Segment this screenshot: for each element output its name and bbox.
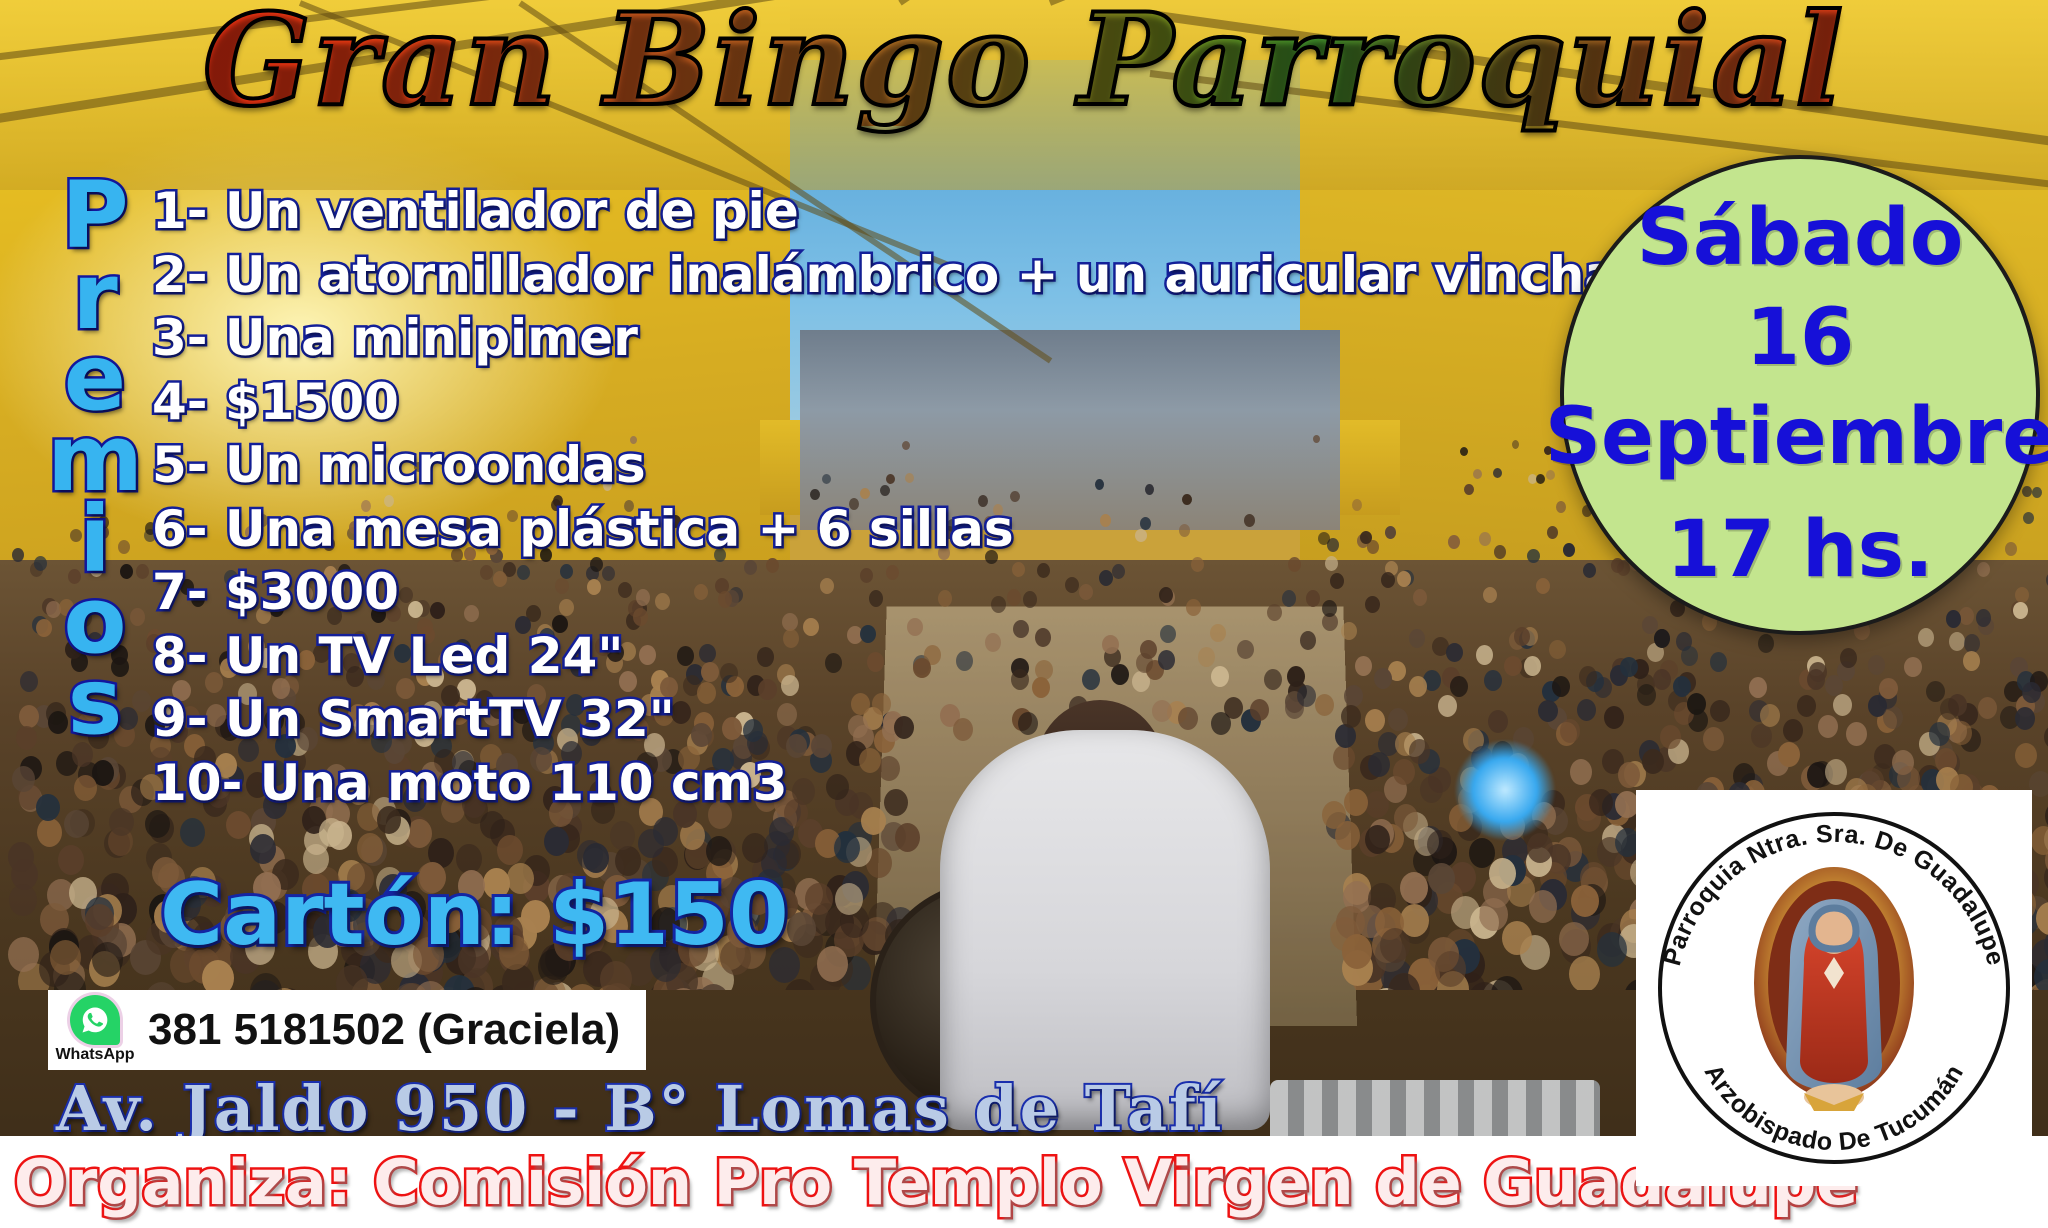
whatsapp-label: WhatsApp — [55, 1047, 134, 1063]
organizer-text: Organiza: Comisión Pro Templo Virgen de … — [0, 1146, 1858, 1219]
whatsapp-mark: WhatsApp — [56, 994, 134, 1066]
bingo-poster: Gran Bingo Parroquial P r e m i o s 1- U… — [0, 0, 2048, 1228]
carton-price: Cartón: $150 — [160, 865, 789, 965]
prize-item: 7- $3000 — [152, 561, 1482, 625]
whatsapp-icon — [70, 995, 120, 1045]
whatsapp-phone-number: 381 5181502 (Graciela) — [148, 1005, 620, 1055]
event-day-name: Sábado — [1637, 195, 1964, 282]
prize-list: 1- Un ventilador de pie 2- Un atornillad… — [152, 180, 1482, 815]
prize-item: 10- Una moto 110 cm3 — [152, 752, 1482, 816]
prize-item: 5- Un microondas — [152, 434, 1482, 498]
poster-title: Gran Bingo Parroquial — [0, 0, 2048, 126]
prize-item: 8- Un TV Led 24" — [152, 625, 1482, 689]
virgin-of-guadalupe-image — [1750, 865, 1918, 1111]
prize-item: 4- $1500 — [152, 371, 1482, 435]
parish-logo: Parroquia Ntra. Sra. De Guadalupe Arzobi… — [1636, 790, 2032, 1186]
event-date-badge: Sábado 16 Septiembre 17 hs. — [1560, 155, 2040, 635]
prize-item: 9- Un SmartTV 32" — [152, 688, 1482, 752]
whatsapp-contact-box[interactable]: WhatsApp 381 5181502 (Graciela) — [48, 990, 646, 1070]
event-month: Septiembre — [1545, 394, 2048, 481]
event-day-number: 16 — [1746, 295, 1855, 382]
prize-item: 3- Una minipimer — [152, 307, 1482, 371]
prize-item: 6- Una mesa plástica + 6 sillas — [152, 498, 1482, 562]
event-time: 17 hs. — [1666, 507, 1933, 594]
premios-letter: s — [68, 662, 123, 743]
premios-vertical-label: P r e m i o s — [40, 176, 150, 743]
venue-address: Av. Jaldo 950 - B° Lomas de Tafí — [56, 1072, 1223, 1145]
prize-item: 1- Un ventilador de pie — [152, 180, 1482, 244]
prize-item: 2- Un atornillador inalámbrico + un auri… — [152, 244, 1482, 308]
